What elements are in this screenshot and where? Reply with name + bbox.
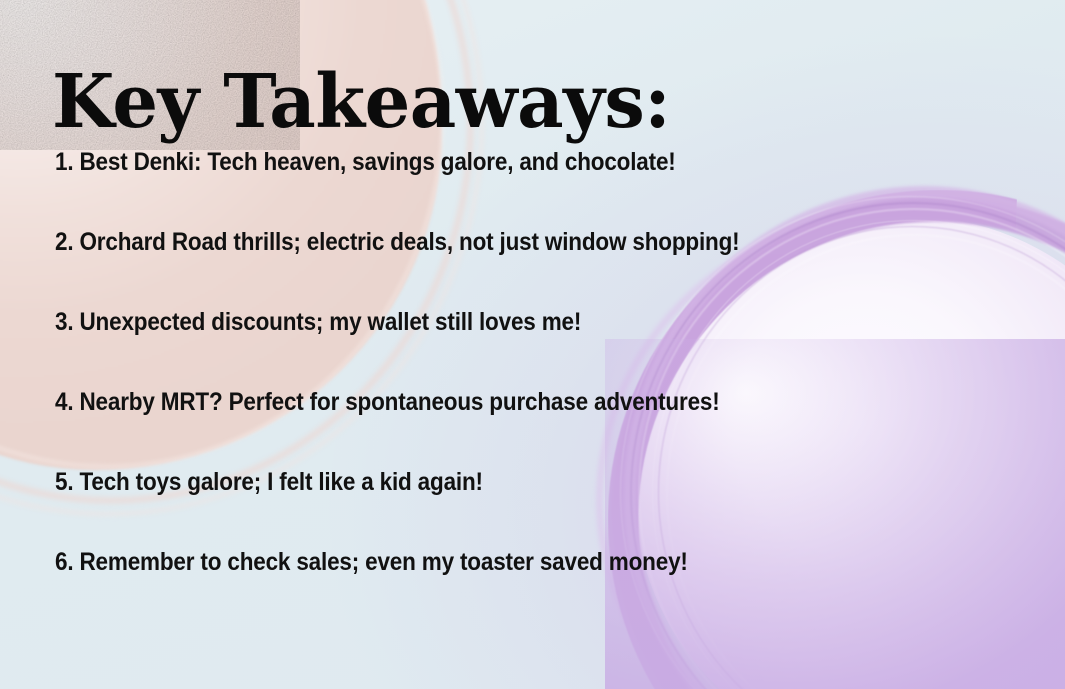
list-item: 1. Best Denki: Tech heaven, savings galo… [55, 150, 919, 230]
list-item: 3. Unexpected discounts; my wallet still… [55, 310, 919, 390]
list-item: 5. Tech toys galore; I felt like a kid a… [55, 470, 919, 550]
slide-content: Key Takeaways: 1. Best Denki: Tech heave… [0, 0, 1065, 689]
list-item: 6. Remember to check sales; even my toas… [55, 550, 919, 630]
list-item: 4. Nearby MRT? Perfect for spontaneous p… [55, 390, 919, 470]
list-item: 2. Orchard Road thrills; electric deals,… [55, 230, 919, 310]
page-title: Key Takeaways: [52, 64, 670, 141]
key-takeaways-slide: Key Takeaways: 1. Best Denki: Tech heave… [0, 0, 1065, 689]
takeaways-list: 1. Best Denki: Tech heaven, savings galo… [55, 150, 1015, 630]
